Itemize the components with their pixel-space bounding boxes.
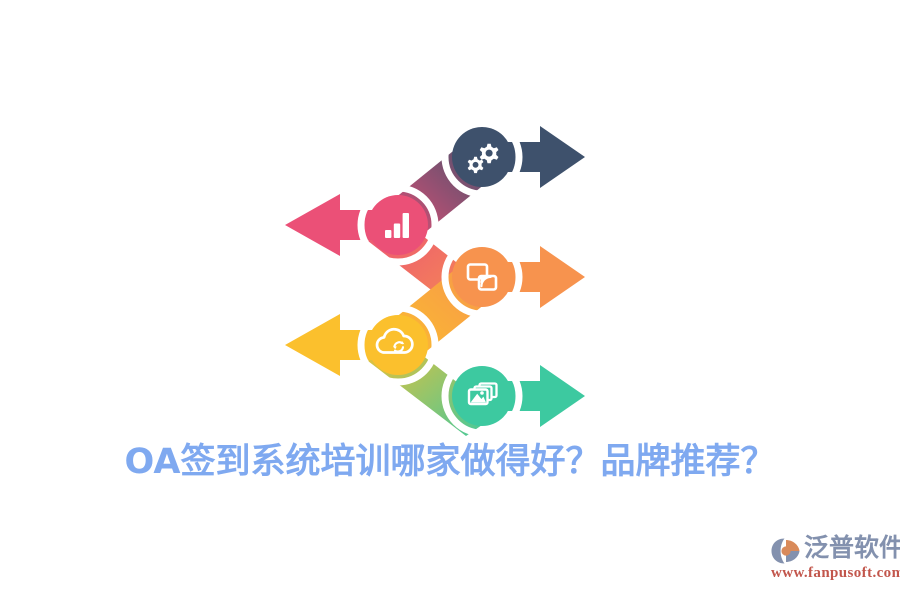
- node-gears[interactable]: [445, 120, 519, 194]
- zigzag-arrow-diagram: [0, 0, 900, 600]
- fanpu-logo-icon: [770, 537, 802, 565]
- node-screen-cast[interactable]: [445, 240, 519, 314]
- brand-url: www.fanpusoft.com: [771, 564, 900, 582]
- infographic-canvas: OA签到系统培训哪家做得好？品牌推荐？ 泛普软件 www.fanpusoft.c…: [0, 0, 900, 600]
- node-cloud-sync[interactable]: [361, 308, 435, 382]
- brand-name: 泛普软件: [804, 533, 900, 563]
- node-bar-chart[interactable]: [361, 188, 435, 262]
- node-image-gallery[interactable]: [445, 359, 519, 433]
- brand-watermark[interactable]: 泛普软件 www.fanpusoft.com: [770, 531, 892, 587]
